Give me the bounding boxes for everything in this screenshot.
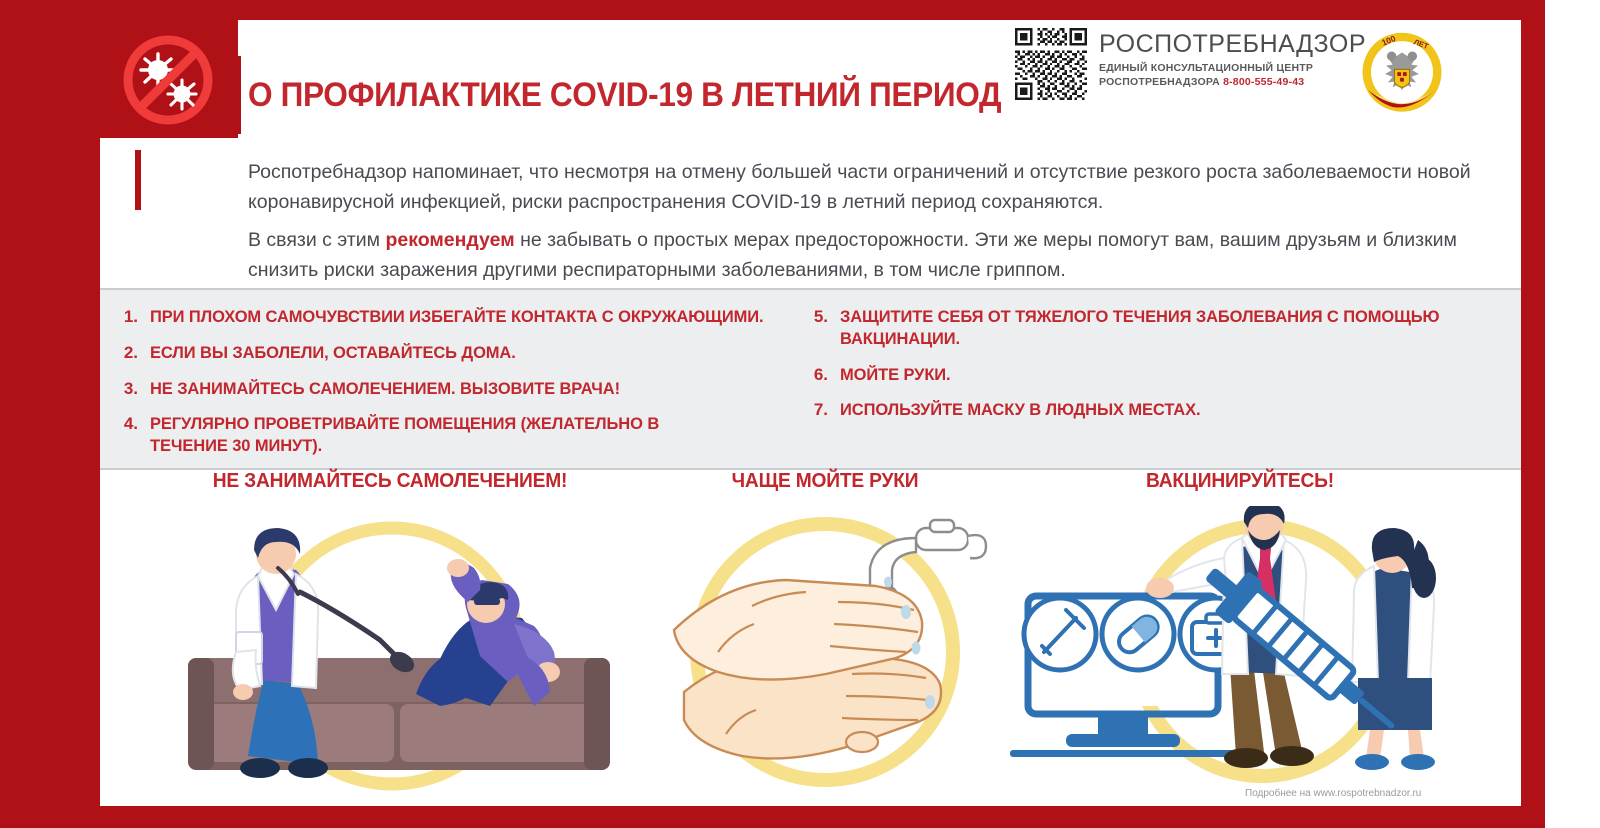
rospotrebnadzor-100-years-emblem: 100 ЛЕТ [1355, 28, 1449, 122]
qr-code-icon [1015, 28, 1087, 100]
header-red-block [100, 20, 238, 138]
list-item: 3. НЕ ЗАНИМАЙТЕСЬ САМОЛЕЧЕНИЕМ. ВЫЗОВИТЕ… [110, 378, 800, 400]
org-text-block: РОСПОТРЕБНАДЗОР ЕДИНЫЙ КОНСУЛЬТАЦИОННЫЙ … [1099, 28, 1366, 89]
list-item-number: 2. [110, 342, 150, 364]
list-item-label: ЕСЛИ ВЫ ЗАБОЛЕЛИ, ОСТАВАЙТЕСЬ ДОМА. [150, 342, 516, 364]
illustration-block-handwashing: ЧАЩЕ МОЙТЕ РУКИ [630, 470, 1020, 801]
doctor-examining-patient-on-couch-illustration [130, 506, 650, 796]
illustration-block-selftreatment: НЕ ЗАНИМАЙТЕСЬ САМОЛЕЧЕНИЕМ! [130, 470, 650, 801]
intro-accent-rule [135, 150, 141, 210]
no-virus-prohibition-icon [118, 32, 218, 128]
list-item-number: 5. [800, 306, 840, 328]
recommendations-column-left: 1. ПРИ ПЛОХОМ САМОЧУВСТВИИ ИЗБЕГАЙТЕ КОН… [110, 306, 800, 471]
page-title-text: О ПРОФИЛАКТИКЕ COVID-19 В ЛЕТНИЙ ПЕРИОД [248, 76, 936, 115]
org-subtitle-line1: ЕДИНЫЙ КОНСУЛЬТАЦИОННЫЙ ЦЕНТР [1099, 62, 1366, 75]
frame-band-bottom [0, 806, 1545, 828]
list-item: 5. ЗАЩИТИТЕ СЕБЯ ОТ ТЯЖЕЛОГО ТЕЧЕНИЯ ЗАБ… [800, 306, 1500, 350]
poster-root: О ПРОФИЛАКТИКЕ COVID-19 В ЛЕТНИЙ ПЕРИОД [0, 0, 1600, 828]
list-item-number: 3. [110, 378, 150, 400]
recommendations-panel: 1. ПРИ ПЛОХОМ САМОЧУВСТВИИ ИЗБЕГАЙТЕ КОН… [100, 288, 1521, 470]
illustration-caption: НЕ ЗАНИМАЙТЕСЬ САМОЛЕЧЕНИЕМ! [140, 470, 639, 492]
list-item-label: ИСПОЛЬЗУЙТЕ МАСКУ В ЛЮДНЫХ МЕСТАХ. [840, 399, 1200, 421]
list-item: 2. ЕСЛИ ВЫ ЗАБОЛЕЛИ, ОСТАВАЙТЕСЬ ДОМА. [110, 342, 800, 364]
hotline-phone[interactable]: 8-800-555-49-43 [1223, 76, 1304, 88]
footer-note: Подробнее на www.rospotrebnadzor.ru [1245, 788, 1421, 799]
illustration-block-vaccination: ВАКЦИНИРУЙТЕСЬ! [980, 470, 1500, 801]
intro-p2-before: В связи с этим [248, 229, 385, 251]
list-item-number: 7. [800, 399, 840, 421]
illustrations-row: НЕ ЗАНИМАЙТЕСЬ САМОЛЕЧЕНИЕМ! [100, 470, 1521, 806]
list-item-label: ПРИ ПЛОХОМ САМОЧУВСТВИИ ИЗБЕГАЙТЕ КОНТАК… [150, 306, 764, 328]
intro-paragraph-2: В связи с этим рекомендуем не забывать о… [248, 226, 1493, 285]
recommendations-column-right: 5. ЗАЩИТИТЕ СЕБЯ ОТ ТЯЖЕЛОГО ТЕЧЕНИЯ ЗАБ… [800, 306, 1500, 435]
intro-section: Роспотребнадзор напоминает, что несмотря… [100, 138, 1521, 288]
list-item: 6. МОЙТЕ РУКИ. [800, 364, 1500, 386]
right-white-margin [1545, 0, 1600, 828]
intro-paragraph-1: Роспотребнадзор напоминает, что несмотря… [248, 158, 1493, 217]
org-name: РОСПОТРЕБНАДЗОР [1099, 32, 1366, 57]
list-item-label: МОЙТЕ РУКИ. [840, 364, 951, 386]
frame-band-left [0, 0, 100, 828]
poster-sheet: О ПРОФИЛАКТИКЕ COVID-19 В ЛЕТНИЙ ПЕРИОД [100, 20, 1521, 806]
poster-header: О ПРОФИЛАКТИКЕ COVID-19 В ЛЕТНИЙ ПЕРИОД [100, 20, 1521, 138]
list-item-label: РЕГУЛЯРНО ПРОВЕТРИВАЙТЕ ПОМЕЩЕНИЯ (ЖЕЛАТ… [150, 413, 693, 457]
list-item: 1. ПРИ ПЛОХОМ САМОЧУВСТВИИ ИЗБЕГАЙТЕ КОН… [110, 306, 800, 328]
title-accent-rule [235, 56, 241, 134]
frame-band-top [0, 0, 1545, 20]
illustration-caption: ЧАЩЕ МОЙТЕ РУКИ [638, 470, 1012, 492]
org-subtitle-line2: РОСПОТРЕБНАДЗОРА 8-800-555-49-43 [1099, 76, 1366, 89]
list-item-label: НЕ ЗАНИМАЙТЕСЬ САМОЛЕЧЕНИЕМ. ВЫЗОВИТЕ ВР… [150, 378, 620, 400]
list-item-label: ЗАЩИТИТЕ СЕБЯ ОТ ТЯЖЕЛОГО ТЕЧЕНИЯ ЗАБОЛЕ… [840, 306, 1461, 350]
intro-p2-highlight: рекомендуем [385, 229, 514, 251]
list-item-number: 6. [800, 364, 840, 386]
hands-washing-under-faucet-illustration [630, 506, 1020, 796]
doctors-with-syringe-and-monitor-illustration [980, 506, 1500, 796]
illustration-caption: ВАКЦИНИРУЙТЕСЬ! [990, 470, 1489, 492]
list-item-number: 4. [110, 413, 150, 435]
rospotrebnadzor-logo-block: РОСПОТРЕБНАДЗОР ЕДИНЫЙ КОНСУЛЬТАЦИОННЫЙ … [1015, 28, 1366, 100]
org-subtitle-line2-text: РОСПОТРЕБНАДЗОРА [1099, 76, 1220, 88]
frame-band-right [1521, 0, 1545, 828]
list-item: 7. ИСПОЛЬЗУЙТЕ МАСКУ В ЛЮДНЫХ МЕСТАХ. [800, 399, 1500, 421]
list-item: 4. РЕГУЛЯРНО ПРОВЕТРИВАЙТЕ ПОМЕЩЕНИЯ (ЖЕ… [110, 413, 800, 457]
page-title: О ПРОФИЛАКТИКЕ COVID-19 В ЛЕТНИЙ ПЕРИОД [248, 76, 988, 115]
list-item-number: 1. [110, 306, 150, 328]
